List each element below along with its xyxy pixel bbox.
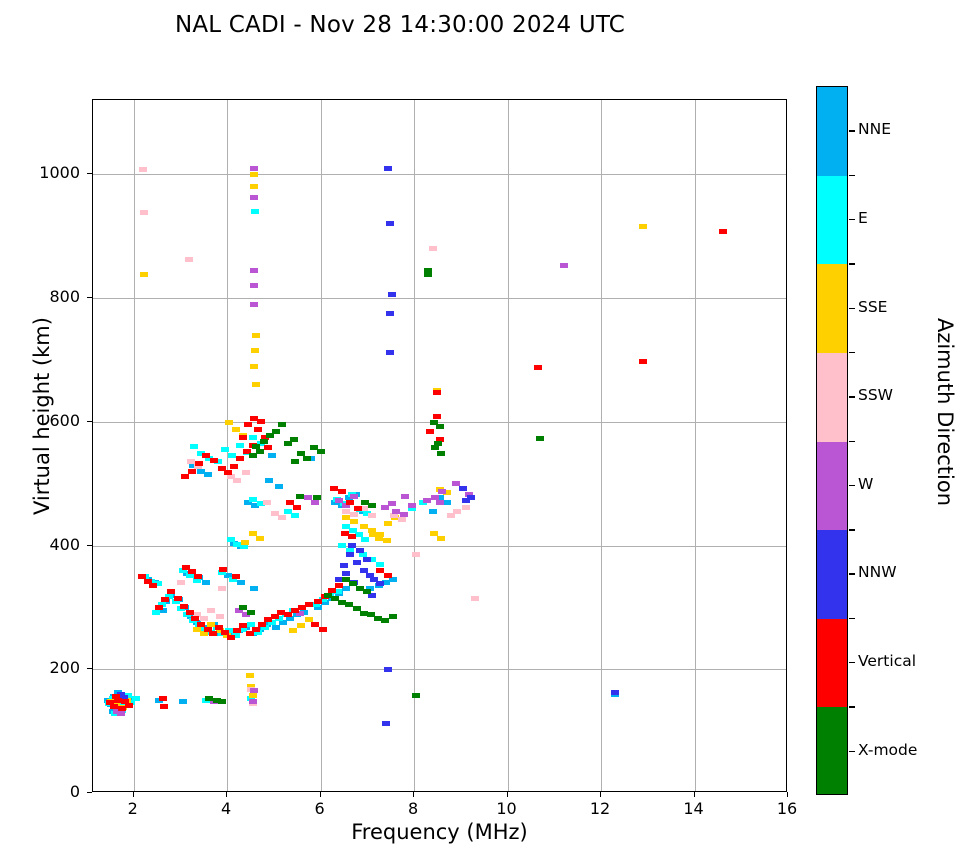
- data-point-x-mode: [218, 699, 226, 704]
- data-point-nne: [429, 509, 437, 514]
- data-point-w: [436, 500, 444, 505]
- data-point-x-mode: [272, 429, 280, 434]
- y-axis-tick-label: 0: [34, 782, 80, 801]
- x-axis-tick: [787, 792, 788, 797]
- data-point-x-mode: [266, 433, 274, 438]
- colorbar-tick: [849, 396, 855, 397]
- colorbar-tick-label-nnw: NNW: [858, 563, 897, 581]
- data-point-x-mode: [437, 451, 445, 456]
- data-point-nnw: [340, 563, 348, 568]
- data-point-e: [240, 544, 248, 549]
- data-point-sse: [251, 348, 259, 353]
- data-point-sse: [289, 628, 297, 633]
- data-point-nnw: [462, 498, 470, 503]
- data-point-nne: [204, 472, 212, 477]
- x-axis-tick: [600, 792, 601, 797]
- data-point-vertical: [155, 605, 163, 610]
- data-point-ssw: [447, 513, 455, 518]
- y-axis-tick: [87, 668, 92, 669]
- colorbar-boundary-tick: [849, 618, 855, 619]
- data-point-vertical: [384, 573, 392, 578]
- data-point-e: [361, 537, 369, 542]
- data-point-e: [291, 513, 299, 518]
- colorbar-tick: [849, 130, 855, 131]
- data-point-vertical: [239, 435, 247, 440]
- data-point-w: [117, 711, 125, 716]
- data-point-vertical: [376, 568, 384, 573]
- colorbar-label: Azimuth Direction: [933, 262, 957, 562]
- y-axis-tick: [87, 297, 92, 298]
- colorbar-tick: [849, 751, 855, 752]
- data-point-vertical: [194, 574, 202, 579]
- data-point-nne: [342, 586, 350, 591]
- data-point-sse: [252, 333, 260, 338]
- colorbar-tick-label-ssw: SSW: [858, 386, 893, 404]
- data-point-vertical: [293, 505, 301, 510]
- data-point-w: [249, 699, 257, 704]
- colorbar-boundary-tick: [849, 175, 855, 176]
- x-axis-tick: [133, 792, 134, 797]
- data-point-ssw: [200, 616, 208, 621]
- data-point-x-mode: [317, 449, 325, 454]
- colorbar-boundary-tick: [849, 352, 855, 353]
- x-axis-tick: [320, 792, 321, 797]
- colorbar-boundary-tick: [849, 706, 855, 707]
- data-point-ssw: [398, 517, 406, 522]
- data-point-x-mode: [284, 441, 292, 446]
- data-point-vertical: [252, 627, 260, 632]
- data-point-vertical: [534, 365, 542, 370]
- data-point-w: [250, 268, 258, 273]
- data-point-vertical: [218, 466, 226, 471]
- data-point-vertical: [338, 489, 346, 494]
- data-point-e: [228, 453, 236, 458]
- data-point-vertical: [311, 622, 319, 627]
- colorbar-tick-label-nne: NNE: [858, 120, 891, 138]
- data-point-vertical: [719, 229, 727, 234]
- colorbar-segment-x-mode: [817, 707, 847, 795]
- data-point-x-mode: [424, 272, 432, 277]
- data-point-nnw: [346, 552, 354, 557]
- data-point-vertical: [160, 704, 168, 709]
- data-point-x-mode: [296, 494, 304, 499]
- data-point-sse: [342, 515, 350, 520]
- data-point-ssw: [242, 470, 250, 475]
- data-point-vertical: [227, 635, 235, 640]
- colorbar-boundary-tick: [849, 441, 855, 442]
- x-axis-tick-label: 6: [300, 799, 340, 818]
- data-point-sse: [232, 427, 240, 432]
- colorbar-boundary-tick: [849, 529, 855, 530]
- data-point-sse: [350, 519, 358, 524]
- data-point-nnw: [388, 292, 396, 297]
- y-axis-tick-label: 200: [34, 658, 80, 677]
- y-axis-tick: [87, 545, 92, 546]
- data-point-ssw: [368, 513, 376, 518]
- data-point-sse: [250, 364, 258, 369]
- data-point-sse: [639, 224, 647, 229]
- data-point-sse: [249, 693, 257, 698]
- y-axis-tick: [87, 421, 92, 422]
- data-point-vertical: [433, 414, 441, 419]
- x-axis-tick-label: 12: [580, 799, 620, 818]
- x-axis-tick-label: 16: [767, 799, 807, 818]
- data-point-x-mode: [290, 437, 298, 442]
- data-point-ssw: [390, 513, 398, 518]
- data-point-sse: [250, 184, 258, 189]
- data-point-vertical: [264, 445, 272, 450]
- data-point-ssw: [218, 586, 226, 591]
- data-point-nne: [279, 620, 287, 625]
- data-point-vertical: [346, 500, 354, 505]
- colorbar-segment-sse: [817, 264, 847, 353]
- data-point-ssw: [462, 505, 470, 510]
- data-point-ssw: [412, 552, 420, 557]
- data-point-w: [350, 494, 358, 499]
- data-point-x-mode: [345, 602, 353, 607]
- ionogram-figure: NAL CADI - Nov 28 14:30:00 2024 UTC 2468…: [0, 0, 958, 857]
- data-point-w: [250, 195, 258, 200]
- data-point-x-mode: [247, 610, 255, 615]
- data-point-vertical: [138, 574, 146, 579]
- data-point-x-mode: [363, 589, 371, 594]
- data-point-nnw: [611, 690, 619, 695]
- data-point-w: [250, 688, 258, 693]
- x-axis-tick-label: 10: [487, 799, 527, 818]
- data-point-vertical: [181, 474, 189, 479]
- data-point-sse: [375, 536, 383, 541]
- data-point-vertical: [174, 596, 182, 601]
- data-point-nnw: [342, 571, 350, 576]
- data-point-x-mode: [303, 456, 311, 461]
- data-point-nnw: [384, 166, 392, 171]
- data-point-vertical: [250, 416, 258, 421]
- data-point-nnw: [382, 721, 390, 726]
- data-point-ssw: [342, 509, 350, 514]
- colorbar-boundary-tick: [849, 263, 855, 264]
- data-point-nne: [265, 478, 273, 483]
- data-point-nnw: [363, 557, 371, 562]
- data-point-vertical: [188, 469, 196, 474]
- data-point-x-mode: [361, 500, 369, 505]
- data-point-nne: [237, 580, 245, 585]
- data-point-vertical: [186, 610, 194, 615]
- data-point-vertical: [639, 359, 647, 364]
- colorbar-segment-ssw: [817, 353, 847, 442]
- data-point-vertical: [144, 579, 152, 584]
- data-point-vertical: [230, 464, 238, 469]
- data-point-vertical: [348, 534, 356, 539]
- data-point-vertical: [284, 612, 292, 617]
- data-point-vertical: [161, 597, 169, 602]
- data-point-sse: [383, 538, 391, 543]
- data-point-vertical: [219, 567, 227, 572]
- data-point-vertical: [233, 628, 241, 633]
- data-point-e: [249, 497, 257, 502]
- data-point-ssw: [207, 608, 215, 613]
- data-point-vertical: [149, 583, 157, 588]
- data-point-w: [438, 489, 446, 494]
- data-point-w: [250, 166, 258, 171]
- plot-area: [92, 99, 787, 792]
- data-point-vertical: [167, 589, 175, 594]
- data-point-e: [249, 435, 257, 440]
- data-point-w: [311, 500, 319, 505]
- colorbar-tick: [849, 308, 855, 309]
- data-point-ssw: [177, 580, 185, 585]
- data-point-e: [152, 610, 160, 615]
- y-axis-label: Virtual height (km): [30, 266, 54, 566]
- data-point-w: [401, 494, 409, 499]
- x-axis-tick: [413, 792, 414, 797]
- colorbar-tick: [849, 662, 855, 663]
- data-point-ssw: [350, 512, 358, 517]
- data-point-x-mode: [431, 445, 439, 450]
- data-point-ssw: [185, 257, 193, 262]
- data-point-nnw: [384, 667, 392, 672]
- data-point-vertical: [224, 470, 232, 475]
- figure-title: NAL CADI - Nov 28 14:30:00 2024 UTC: [0, 12, 800, 38]
- data-point-vertical: [195, 461, 203, 466]
- data-point-ssw: [140, 210, 148, 215]
- data-point-x-mode: [412, 693, 420, 698]
- colorbar-segment-nne: [817, 87, 847, 176]
- data-point-nne: [268, 453, 276, 458]
- data-point-x-mode: [260, 439, 268, 444]
- data-point-ssw: [471, 596, 479, 601]
- data-point-ssw: [278, 515, 286, 520]
- data-point-ssw: [429, 246, 437, 251]
- data-point-vertical: [433, 390, 441, 395]
- data-point-w: [388, 501, 396, 506]
- data-point-vertical: [159, 696, 167, 701]
- data-point-sse: [384, 521, 392, 526]
- data-point-vertical: [191, 616, 199, 621]
- data-point-nnw: [348, 543, 356, 548]
- data-point-vertical: [354, 506, 362, 511]
- data-point-x-mode: [368, 503, 376, 508]
- data-point-ssw: [233, 478, 241, 483]
- data-point-nne: [202, 580, 210, 585]
- colorbar-tick: [849, 219, 855, 220]
- data-point-x-mode: [434, 441, 442, 446]
- x-axis-label: Frequency (MHz): [92, 820, 787, 844]
- data-point-x-mode: [313, 495, 321, 500]
- colorbar: [816, 86, 848, 795]
- colorbar-tick-label-e: E: [858, 209, 868, 227]
- data-point-vertical: [210, 458, 218, 463]
- data-point-x-mode: [436, 424, 444, 429]
- data-point-sse: [250, 172, 258, 177]
- data-point-vertical: [271, 614, 279, 619]
- colorbar-tick-label-w: W: [858, 475, 873, 493]
- data-point-w: [560, 263, 568, 268]
- data-point-w: [250, 283, 258, 288]
- data-point-w: [408, 503, 416, 508]
- data-point-e: [132, 696, 140, 701]
- data-point-sse: [200, 631, 208, 636]
- colorbar-segment-nnw: [817, 530, 847, 619]
- data-point-sse: [140, 272, 148, 277]
- data-point-vertical: [426, 429, 434, 434]
- data-point-nnw: [386, 221, 394, 226]
- x-axis-tick-label: 8: [393, 799, 433, 818]
- data-point-nnw: [459, 486, 467, 491]
- data-point-sse: [246, 673, 254, 678]
- data-point-e: [251, 209, 259, 214]
- data-point-sse: [225, 420, 233, 425]
- data-points-layer: [93, 100, 786, 791]
- data-point-vertical: [209, 631, 217, 636]
- data-point-w: [400, 512, 408, 517]
- data-point-vertical: [305, 602, 313, 607]
- colorbar-segment-e: [817, 176, 847, 265]
- y-axis-tick-label: 1000: [34, 163, 80, 182]
- data-point-sse: [256, 536, 264, 541]
- x-axis-tick-label: 14: [674, 799, 714, 818]
- data-point-vertical: [125, 703, 133, 708]
- x-axis-tick: [694, 792, 695, 797]
- y-axis-tick: [87, 792, 92, 793]
- y-axis-tick: [87, 173, 92, 174]
- data-point-vertical: [319, 627, 327, 632]
- data-point-x-mode: [291, 459, 299, 464]
- data-point-e: [376, 562, 384, 567]
- data-point-ssw: [216, 614, 224, 619]
- data-point-nne: [443, 500, 451, 505]
- data-point-vertical: [330, 486, 338, 491]
- x-axis-tick-label: 4: [206, 799, 246, 818]
- data-point-vertical: [180, 604, 188, 609]
- data-point-vertical: [202, 453, 210, 458]
- colorbar-tick-label-vertical: Vertical: [858, 652, 916, 670]
- data-point-vertical: [232, 574, 240, 579]
- data-point-nnw: [386, 350, 394, 355]
- data-point-nne: [250, 586, 258, 591]
- data-point-x-mode: [256, 449, 264, 454]
- colorbar-segment-w: [817, 442, 847, 531]
- data-point-sse: [252, 382, 260, 387]
- data-point-e: [236, 443, 244, 448]
- data-point-sse: [437, 536, 445, 541]
- data-point-x-mode: [278, 422, 286, 427]
- data-point-x-mode: [381, 618, 389, 623]
- colorbar-tick: [849, 485, 855, 486]
- data-point-nne: [275, 484, 283, 489]
- data-point-w: [250, 302, 258, 307]
- colorbar-segment-vertical: [817, 619, 847, 708]
- data-point-x-mode: [249, 453, 257, 458]
- data-point-vertical: [112, 694, 120, 699]
- data-point-sse: [241, 540, 249, 545]
- data-point-e: [221, 447, 229, 452]
- data-point-x-mode: [389, 614, 397, 619]
- data-point-e: [190, 444, 198, 449]
- data-point-vertical: [239, 623, 247, 628]
- data-point-vertical: [335, 583, 343, 588]
- data-point-sse: [297, 623, 305, 628]
- x-axis-tick: [507, 792, 508, 797]
- data-point-vertical: [244, 422, 252, 427]
- data-point-ssw: [263, 500, 271, 505]
- data-point-vertical: [246, 631, 254, 636]
- data-point-vertical: [314, 599, 322, 604]
- colorbar-tick: [849, 573, 855, 574]
- x-axis-tick: [226, 792, 227, 797]
- data-point-nnw: [376, 581, 384, 586]
- data-point-nne: [389, 577, 397, 582]
- data-point-e: [338, 543, 346, 548]
- data-point-vertical: [254, 427, 262, 432]
- x-axis-tick-label: 2: [113, 799, 153, 818]
- colorbar-tick-label-sse: SSE: [858, 298, 887, 316]
- data-point-nne: [179, 699, 187, 704]
- data-point-nne: [272, 625, 280, 630]
- colorbar-tick-label-x-mode: X-mode: [858, 741, 917, 759]
- data-point-vertical: [236, 456, 244, 461]
- data-point-nnw: [386, 311, 394, 316]
- data-point-sse: [360, 524, 368, 529]
- data-point-w: [423, 498, 431, 503]
- data-point-vertical: [258, 622, 266, 627]
- data-point-nnw: [353, 560, 361, 565]
- data-point-nnw: [356, 548, 364, 553]
- data-point-x-mode: [536, 436, 544, 441]
- data-point-ssw: [139, 167, 147, 172]
